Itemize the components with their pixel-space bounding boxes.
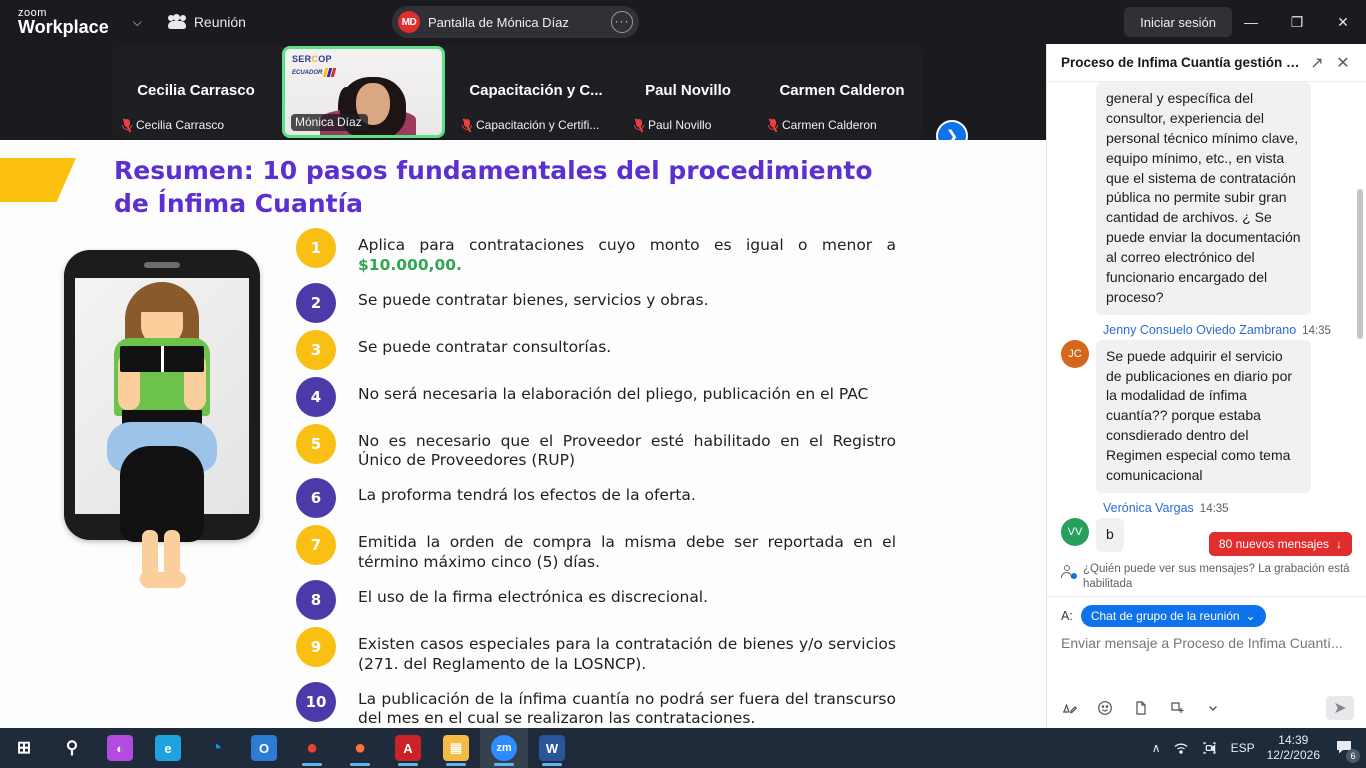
- avatar[interactable]: JC: [1061, 340, 1089, 368]
- step-item: 6La proforma tendrá los efectos de la of…: [296, 478, 896, 518]
- phone-illustration: [64, 250, 260, 540]
- step-number-badge: 5: [296, 424, 336, 464]
- new-messages-button[interactable]: 80 nuevos mensajes ↓: [1209, 532, 1352, 556]
- running-indicator: [350, 763, 370, 766]
- screenshot-icon[interactable]: [1167, 698, 1187, 718]
- chat-header: Proceso de Infima Cuantía gestión y ... …: [1047, 44, 1366, 82]
- step-number-badge: 10: [296, 682, 336, 722]
- step-number-badge: 6: [296, 478, 336, 518]
- step-text: Emitida la orden de compra la misma debe…: [358, 525, 896, 573]
- search-button[interactable]: ⚲: [48, 728, 96, 768]
- acrobat-icon: A: [395, 735, 421, 761]
- step-item: 5No es necesario que el Proveedor esté h…: [296, 424, 896, 472]
- step-item: 4No será necesaria la elaboración del pl…: [296, 377, 896, 417]
- zoom-titlebar: zoom Workplace ⌵ Reunión MD Pantalla de …: [0, 0, 1366, 44]
- zoom-meeting-window: zoom Workplace ⌵ Reunión MD Pantalla de …: [0, 0, 1366, 768]
- chat-sender-name[interactable]: Jenny Consuelo Oviedo Zambrano: [1103, 323, 1296, 337]
- popout-icon[interactable]: ↗: [1304, 50, 1330, 76]
- mic-off-icon: [634, 119, 644, 132]
- send-button[interactable]: ➤: [1326, 696, 1354, 720]
- participant-name-chip-label: Mónica Díaz: [295, 115, 362, 129]
- meeting-tab[interactable]: Reunión: [168, 14, 246, 30]
- avatar[interactable]: VV: [1061, 518, 1089, 546]
- recipient-value: Chat de grupo de la reunión: [1091, 609, 1240, 623]
- firefox-icon: ●: [347, 735, 373, 761]
- people-icon: [168, 15, 186, 29]
- close-button[interactable]: ✕: [1320, 0, 1366, 44]
- screen-share-indicator[interactable]: MD Pantalla de Mónica Díaz ···: [392, 6, 639, 38]
- participant-tile[interactable]: Cecilia CarrascoCecilia Carrasco: [112, 46, 280, 138]
- chat-message-input[interactable]: Enviar mensaje a Proceso de Infima Cuant…: [1047, 627, 1366, 651]
- sign-in-button[interactable]: Iniciar sesión: [1124, 7, 1232, 37]
- chat-message: general y específica del consultor, expe…: [1047, 82, 1366, 315]
- copilot-button[interactable]: ◐: [96, 728, 144, 768]
- clock[interactable]: 14:39 12/2/2026: [1267, 733, 1320, 763]
- edge-button[interactable]: ◔: [192, 728, 240, 768]
- zoom-logo-bottom: Workplace: [18, 18, 109, 36]
- firefox-button[interactable]: ●: [336, 728, 384, 768]
- step-highlight: $10.000,00.: [358, 256, 462, 274]
- notifications-icon[interactable]: 6: [1332, 735, 1358, 761]
- window-controls: — ❐ ✕: [1228, 0, 1366, 44]
- mic-off-icon: [462, 119, 472, 132]
- chat-timestamp: 14:35: [1200, 503, 1229, 515]
- clock-time: 14:39: [1267, 733, 1320, 748]
- clock-date: 12/2/2026: [1267, 748, 1320, 763]
- running-indicator: [302, 763, 322, 766]
- running-indicator: [446, 763, 466, 766]
- restore-button[interactable]: ❐: [1274, 0, 1320, 44]
- network-icon[interactable]: [1173, 741, 1190, 755]
- chevron-down-icon[interactable]: ⌵: [133, 15, 142, 30]
- filmstrip-track: Cecilia CarrascoCecilia CarrascoSERCOPEC…: [112, 46, 922, 138]
- participant-name-chip: Carmen Calderon: [764, 117, 883, 134]
- step-number-badge: 3: [296, 330, 336, 370]
- chat-bubble: Se puede adquirir el servicio de publica…: [1096, 340, 1311, 493]
- step-text: No será necesaria la elaboración del pli…: [358, 377, 868, 405]
- chat-message: Jenny Consuelo Oviedo Zambrano14:35JCSe …: [1047, 323, 1366, 493]
- slide-yellow-decoration: [0, 158, 76, 202]
- step-number-badge: 4: [296, 377, 336, 417]
- chat-timestamp: 14:35: [1302, 325, 1331, 337]
- chat-bubble: general y específica del consultor, expe…: [1096, 82, 1311, 315]
- start-icon: ⊞: [11, 735, 37, 761]
- chat-bubble: b: [1096, 518, 1124, 552]
- notification-count: 6: [1346, 749, 1360, 763]
- chat-message-header: Verónica Vargas14:35: [1061, 501, 1352, 515]
- participant-name-large: Capacitación y C...: [452, 82, 620, 99]
- show-hidden-icons-chevron[interactable]: ∧: [1152, 741, 1161, 755]
- share-title: Pantalla de Mónica Díaz: [428, 15, 603, 30]
- new-messages-label: 80 nuevos mensajes: [1219, 537, 1329, 551]
- participant-tile[interactable]: SERCOPECUADORMónica Díaz: [282, 46, 445, 138]
- windows-taskbar: ⊞⚲◐e◔O●●A▤zmW ∧ ESP 14:39 12/2/2026 6: [0, 728, 1366, 768]
- step-item: 8El uso de la firma electrónica es discr…: [296, 580, 896, 620]
- system-tray: ∧ ESP 14:39 12/2/2026 6: [1152, 733, 1366, 763]
- chat-message-header: Jenny Consuelo Oviedo Zambrano14:35: [1061, 323, 1352, 337]
- participant-name-large: Paul Novillo: [624, 82, 752, 99]
- share-avatar: MD: [398, 11, 420, 33]
- participant-name-chip: Cecilia Carrasco: [118, 117, 230, 134]
- file-explorer-icon: ▤: [443, 735, 469, 761]
- privacy-note-text: ¿Quién puede ver sus mensajes? La grabac…: [1083, 562, 1352, 592]
- zoom-icon: zm: [491, 735, 517, 761]
- step-number-badge: 2: [296, 283, 336, 323]
- acrobat-button[interactable]: A: [384, 728, 432, 768]
- step-text: No es necesario que el Proveedor esté ha…: [358, 424, 896, 472]
- running-indicator: [398, 763, 418, 766]
- search-icon: ⚲: [59, 735, 85, 761]
- chat-title: Proceso de Infima Cuantía gestión y ...: [1061, 55, 1304, 70]
- chat-toolbar: ➤: [1047, 696, 1366, 720]
- reading-woman-illustration: [64, 250, 260, 540]
- step-text: Aplica para contrataciones cuyo monto es…: [358, 228, 896, 276]
- step-item: 7Emitida la orden de compra la misma deb…: [296, 525, 896, 573]
- step-number-badge: 9: [296, 627, 336, 667]
- file-explorer-button[interactable]: ▤: [432, 728, 480, 768]
- recipient-label: A:: [1061, 609, 1073, 623]
- language-indicator[interactable]: ESP: [1231, 741, 1255, 755]
- arrow-down-icon: ↓: [1336, 537, 1342, 551]
- more-caret-icon[interactable]: [1203, 698, 1223, 718]
- step-text: Existen casos especiales para la contrat…: [358, 627, 896, 675]
- taskbar-apps: ⊞⚲◐e◔O●●A▤zmW: [0, 728, 576, 768]
- more-options-icon[interactable]: ···: [611, 11, 633, 33]
- format-icon[interactable]: [1059, 698, 1079, 718]
- participant-name-large: Cecilia Carrasco: [112, 82, 280, 99]
- outlook-button[interactable]: O: [240, 728, 288, 768]
- outlook-icon: O: [251, 735, 277, 761]
- meeting-tab-label: Reunión: [194, 14, 246, 30]
- chat-sender-name[interactable]: Verónica Vargas: [1103, 501, 1194, 515]
- word-button[interactable]: W: [528, 728, 576, 768]
- participant-name-chip: Capacitación y Certifi...: [458, 117, 605, 134]
- participant-name-chip-label: Cecilia Carrasco: [136, 118, 224, 132]
- mic-off-icon: [768, 119, 778, 132]
- minimize-button[interactable]: —: [1228, 0, 1274, 44]
- step-text: La proforma tendrá los efectos de la ofe…: [358, 478, 696, 506]
- internet-explorer-icon: e: [155, 735, 181, 761]
- step-text: El uso de la firma electrónica es discre…: [358, 580, 708, 608]
- zoom-logo: zoom Workplace: [18, 8, 109, 36]
- step-item: 1Aplica para contrataciones cuyo monto e…: [296, 228, 896, 276]
- step-text: Se puede contratar consultorías.: [358, 330, 611, 358]
- participant-name-chip: Paul Novillo: [630, 117, 717, 134]
- participant-name-chip-label: Carmen Calderon: [782, 118, 877, 132]
- word-icon: W: [539, 735, 565, 761]
- participant-tile[interactable]: Capacitación y C...Capacitación y Certif…: [452, 46, 620, 138]
- recipient-selector[interactable]: Chat de grupo de la reunión ⌄: [1081, 605, 1266, 627]
- zoom-button[interactable]: zm: [480, 728, 528, 768]
- chat-compose-area: A: Chat de grupo de la reunión ⌄ Enviar …: [1047, 596, 1366, 728]
- participant-name-chip-label: Paul Novillo: [648, 118, 711, 132]
- step-number-badge: 1: [296, 228, 336, 268]
- steps-list: 1Aplica para contrataciones cuyo monto e…: [296, 228, 896, 728]
- internet-explorer-button[interactable]: e: [144, 728, 192, 768]
- chat-close-icon[interactable]: ✕: [1330, 50, 1356, 76]
- step-number-badge: 8: [296, 580, 336, 620]
- shared-screen-content: Resumen: 10 pasos fundamentales del proc…: [0, 140, 1046, 728]
- slide-title: Resumen: 10 pasos fundamentales del proc…: [114, 154, 904, 220]
- participant-tile[interactable]: Paul NovilloPaul Novillo: [624, 46, 752, 138]
- chat-privacy-note: ¿Quién puede ver sus mensajes? La grabac…: [1047, 558, 1366, 596]
- file-icon[interactable]: [1131, 698, 1151, 718]
- emoji-icon[interactable]: [1095, 698, 1115, 718]
- participant-name-chip-label: Capacitación y Certifi...: [476, 118, 599, 132]
- participant-tile[interactable]: Carmen CalderonCarmen Calderon: [758, 46, 926, 138]
- camera-icon[interactable]: [1202, 741, 1219, 755]
- step-item: 2Se puede contratar bienes, servicios y …: [296, 283, 896, 323]
- step-number-badge: 7: [296, 525, 336, 565]
- start-button[interactable]: ⊞: [0, 728, 48, 768]
- person-privacy-icon: [1061, 564, 1077, 580]
- chrome-button[interactable]: ●: [288, 728, 336, 768]
- step-item: 9Existen casos especiales para la contra…: [296, 627, 896, 675]
- running-indicator: [542, 763, 562, 766]
- chevron-down-icon: ⌄: [1246, 609, 1256, 623]
- edge-icon: ◔: [203, 735, 229, 761]
- chrome-icon: ●: [299, 735, 325, 761]
- mic-off-icon: [122, 119, 132, 132]
- chat-recipient-row: A: Chat de grupo de la reunión ⌄: [1047, 597, 1366, 627]
- copilot-icon: ◐: [107, 735, 133, 761]
- participant-name-large: Carmen Calderon: [758, 82, 926, 99]
- step-item: 3Se puede contratar consultorías.: [296, 330, 896, 370]
- step-text: La publicación de la ínfima cuantía no p…: [358, 682, 896, 728]
- chat-panel: Proceso de Infima Cuantía gestión y ... …: [1046, 44, 1366, 728]
- chat-message-list[interactable]: general y específica del consultor, expe…: [1047, 82, 1366, 578]
- participants-filmstrip: Cecilia CarrascoCecilia CarrascoSERCOPEC…: [0, 44, 1046, 140]
- step-item: 10La publicación de la ínfima cuantía no…: [296, 682, 896, 728]
- chat-message-row: JCSe puede adquirir el servicio de publi…: [1061, 340, 1352, 493]
- chat-scrollbar[interactable]: [1357, 189, 1363, 339]
- participant-name-chip: Mónica Díaz: [291, 114, 368, 131]
- running-indicator: [494, 763, 514, 766]
- sercop-watermark: SERCOP: [292, 54, 332, 64]
- step-text: Se puede contratar bienes, servicios y o…: [358, 283, 709, 311]
- ecuador-watermark: ECUADOR: [292, 68, 335, 77]
